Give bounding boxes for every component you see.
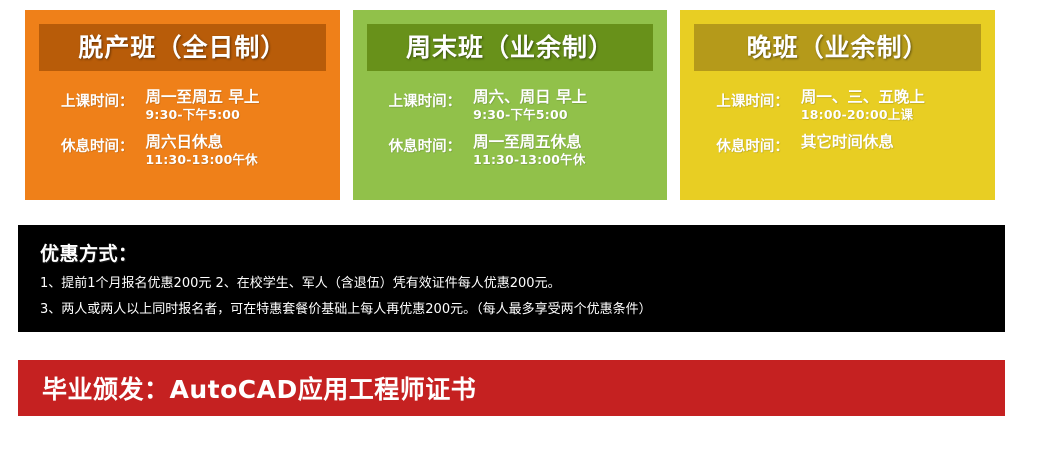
rest-time-row: 休息时间： 周一至周五休息 11:30-13:00午休 xyxy=(389,134,654,167)
rest-time-label: 休息时间： xyxy=(61,134,134,156)
rest-time-value: 周一至周五休息 11:30-13:00午休 xyxy=(473,134,585,167)
promo-page: 脱产班（全日制） 上课时间： 周一至周五 早上 9:30-下午5:00 休息时间… xyxy=(0,0,1043,451)
certificate-text: 毕业颁发：AutoCAD应用工程师证书 xyxy=(42,370,476,406)
class-time-value-main: 周六、周日 早上 xyxy=(473,89,587,107)
class-time-label: 上课时间： xyxy=(61,89,134,111)
rest-time-row: 休息时间： 其它时间休息 xyxy=(716,134,981,156)
class-card-title-full-time: 脱产班（全日制） xyxy=(39,24,326,71)
discount-title: 优惠方式： xyxy=(40,239,1005,266)
class-time-value-sub: 9:30-下午5:00 xyxy=(473,107,587,123)
rest-time-value-main: 周一至周五休息 xyxy=(473,134,585,152)
rest-time-value: 周六日休息 11:30-13:00午休 xyxy=(146,134,258,167)
class-card-weekend[interactable]: 周末班（业余制） 上课时间： 周六、周日 早上 9:30-下午5:00 休息时间… xyxy=(353,10,668,200)
discount-line-2: 3、两人或两人以上同时报名者，可在特惠套餐价基础上每人再优惠200元。（每人最多… xyxy=(40,302,1005,318)
rest-time-value-sub: 11:30-13:00午休 xyxy=(146,152,258,168)
class-card-full-time[interactable]: 脱产班（全日制） 上课时间： 周一至周五 早上 9:30-下午5:00 休息时间… xyxy=(25,10,340,200)
class-time-value: 周六、周日 早上 9:30-下午5:00 xyxy=(473,89,587,122)
rest-time-value-main: 周六日休息 xyxy=(146,134,258,152)
class-card-body-evening: 上课时间： 周一、三、五晚上 18:00-20:00上课 休息时间： 其它时间休… xyxy=(694,89,981,168)
class-time-value-main: 周一至周五 早上 xyxy=(146,89,260,107)
discount-panel: 优惠方式： 1、提前1个月报名优惠200元 2、在校学生、军人（含退伍）凭有效证… xyxy=(18,225,1005,332)
class-time-row: 上课时间： 周六、周日 早上 9:30-下午5:00 xyxy=(389,89,654,122)
rest-time-value: 其它时间休息 xyxy=(801,134,894,152)
class-time-value-main: 周一、三、五晚上 xyxy=(801,89,925,107)
rest-time-value-sub: 11:30-13:00午休 xyxy=(473,152,585,168)
class-card-body-full-time: 上课时间： 周一至周五 早上 9:30-下午5:00 休息时间： 周六日休息 1… xyxy=(39,89,326,180)
rest-time-row: 休息时间： 周六日休息 11:30-13:00午休 xyxy=(61,134,326,167)
class-time-label: 上课时间： xyxy=(389,89,462,111)
class-card-evening[interactable]: 晚班（业余制） 上课时间： 周一、三、五晚上 18:00-20:00上课 休息时… xyxy=(680,10,995,200)
certificate-banner: 毕业颁发：AutoCAD应用工程师证书 xyxy=(18,360,1005,416)
class-time-value-sub: 18:00-20:00上课 xyxy=(801,107,925,123)
class-time-value-sub: 9:30-下午5:00 xyxy=(146,107,260,123)
rest-time-label: 休息时间： xyxy=(716,134,789,156)
class-time-value: 周一、三、五晚上 18:00-20:00上课 xyxy=(801,89,925,122)
rest-time-value-main: 其它时间休息 xyxy=(801,134,894,152)
class-card-title-evening: 晚班（业余制） xyxy=(694,24,981,71)
class-time-row: 上课时间： 周一至周五 早上 9:30-下午5:00 xyxy=(61,89,326,122)
class-time-row: 上课时间： 周一、三、五晚上 18:00-20:00上课 xyxy=(716,89,981,122)
class-card-title-weekend: 周末班（业余制） xyxy=(367,24,654,71)
class-card-body-weekend: 上课时间： 周六、周日 早上 9:30-下午5:00 休息时间： 周一至周五休息… xyxy=(367,89,654,180)
class-time-value: 周一至周五 早上 9:30-下午5:00 xyxy=(146,89,260,122)
rest-time-label: 休息时间： xyxy=(389,134,462,156)
class-time-label: 上课时间： xyxy=(716,89,789,111)
class-schedule-cards: 脱产班（全日制） 上课时间： 周一至周五 早上 9:30-下午5:00 休息时间… xyxy=(25,10,995,200)
discount-line-1: 1、提前1个月报名优惠200元 2、在校学生、军人（含退伍）凭有效证件每人优惠2… xyxy=(40,276,1005,292)
